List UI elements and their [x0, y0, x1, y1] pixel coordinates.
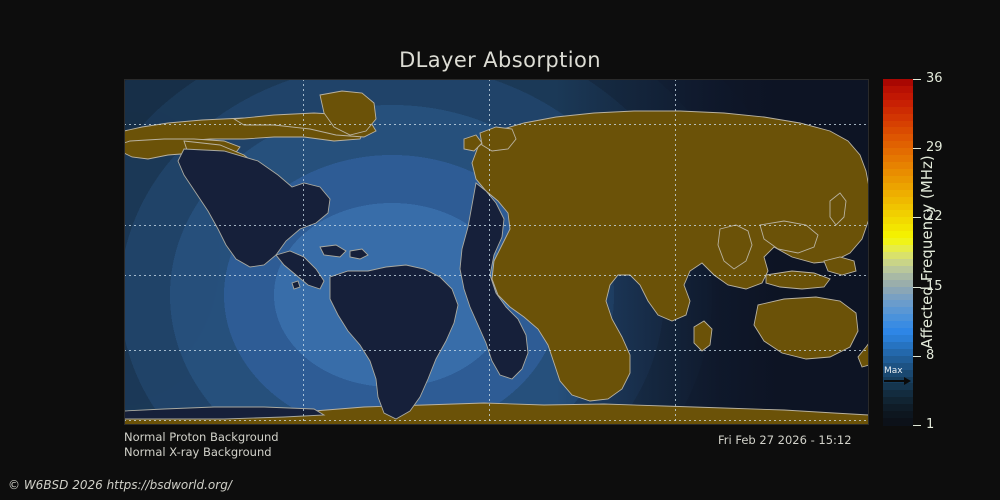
colorbar-axis-label-text: Affected Frequency (MHz) [918, 155, 936, 349]
terminator-layer [124, 79, 869, 425]
page-title: DLayer Absorption [0, 48, 1000, 72]
proton-background-text: Normal Proton Background [124, 430, 279, 445]
world-absorption-map[interactable] [124, 79, 869, 425]
colorbar-segment [883, 418, 913, 426]
colorbar-tick [913, 425, 921, 426]
colorbar-max-label: Max [883, 367, 913, 376]
dlayer-absorption-page: DLayer Absorption [0, 0, 1000, 500]
footer-credit[interactable]: © W6BSD 2026 https://bsdworld.org/ [8, 478, 232, 492]
timestamp-text: Fri Feb 27 2026 - 15:12 [718, 433, 852, 447]
colorbar-axis-label: Affected Frequency (MHz) [916, 79, 938, 425]
colorbar-max-marker: Max [883, 367, 913, 385]
background-conditions: Normal Proton Background Normal X-ray Ba… [124, 430, 279, 460]
colorbar[interactable]: Max 3629221581 [883, 79, 913, 425]
colorbar-max-arrow-icon [883, 376, 913, 385]
xray-background-text: Normal X-ray Background [124, 445, 279, 460]
